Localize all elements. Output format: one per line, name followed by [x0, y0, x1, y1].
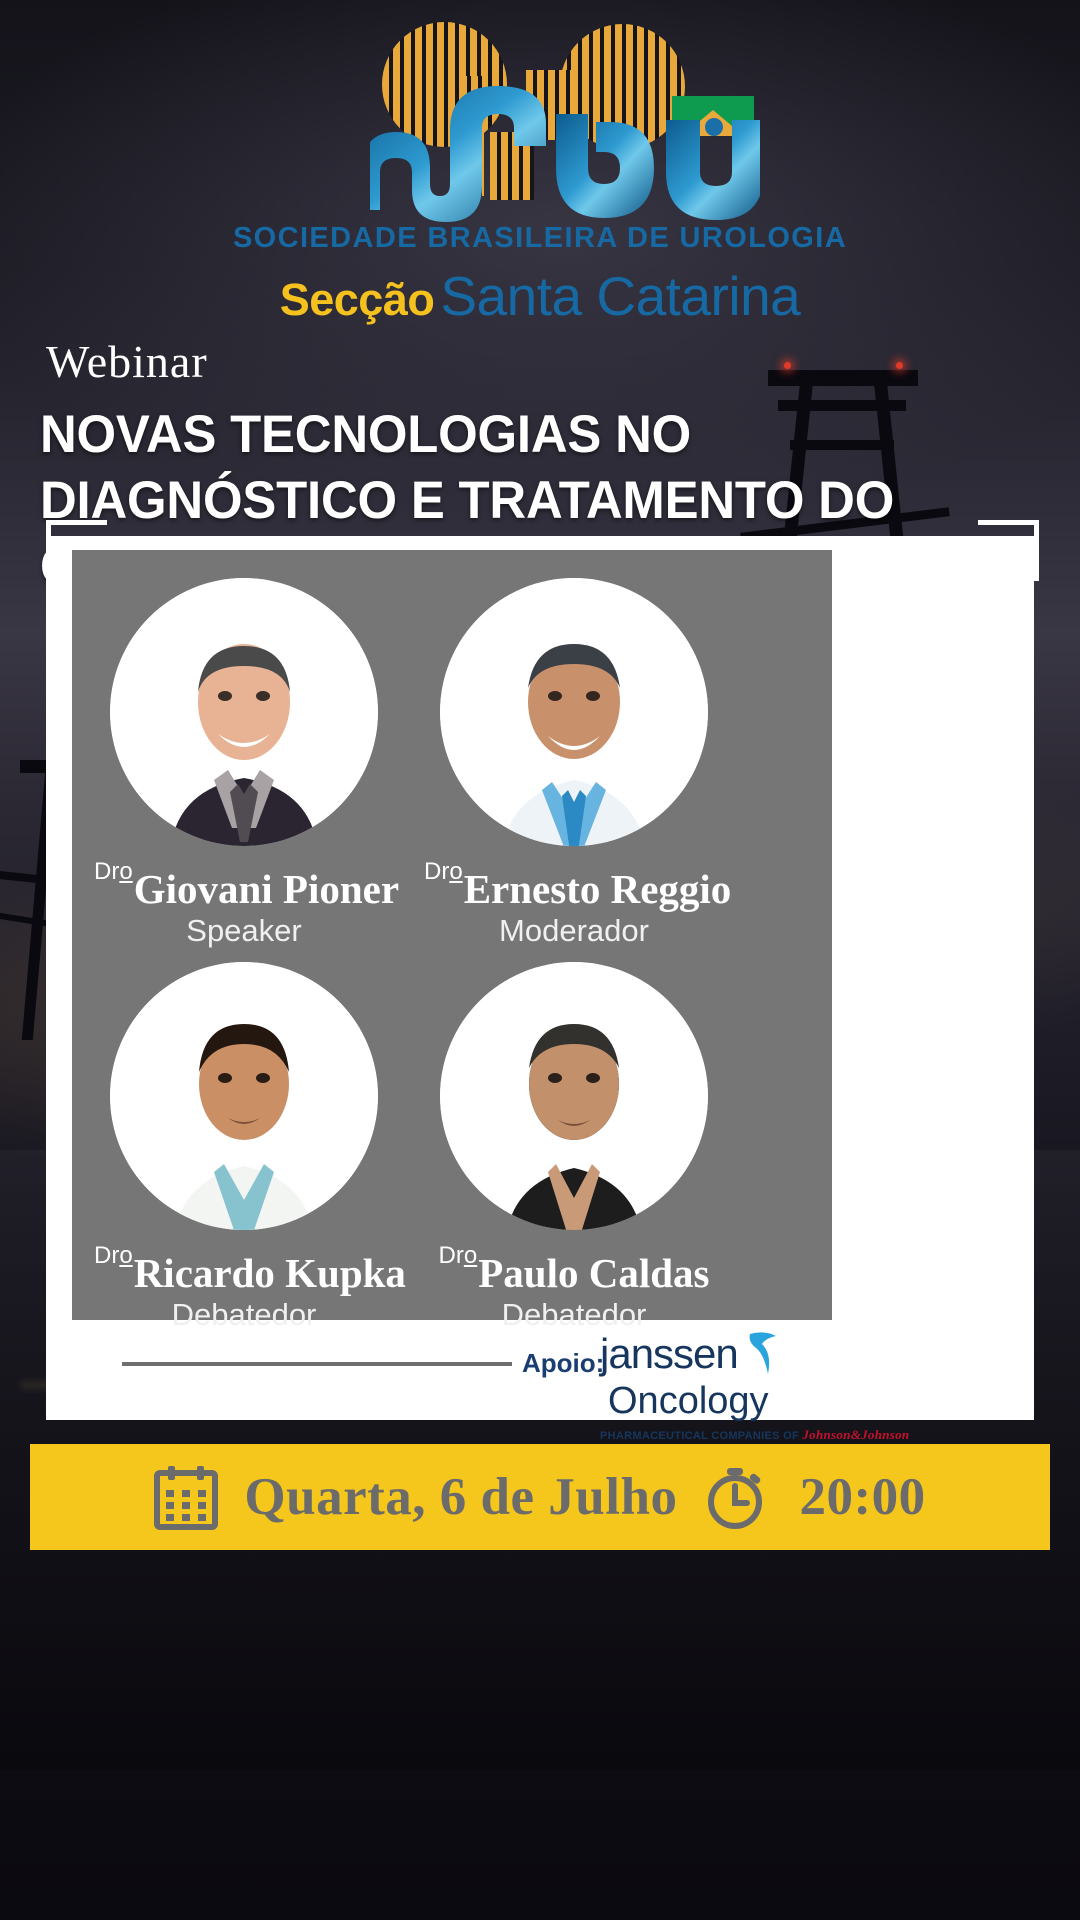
janssen-logo: janssen Oncology PHARMACEUTICAL COMPANIE… — [600, 1328, 920, 1443]
speakers-panel: DroGiovani Pioner Speaker — [72, 550, 832, 1320]
speaker-prefix: Dro — [94, 858, 133, 885]
speaker-role: Moderador — [424, 913, 724, 949]
section-state: Santa Catarina — [440, 265, 800, 327]
speaker-name: DroPaulo Caldas — [424, 1234, 724, 1295]
section-line: SecçãoSanta Catarina — [0, 264, 1080, 328]
janssen-mark-icon — [742, 1328, 782, 1380]
avatar — [440, 578, 708, 846]
calendar-icon — [154, 1464, 218, 1530]
avatar — [110, 578, 378, 846]
speaker-prefix: Dro — [424, 858, 463, 885]
speaker-card: DroGiovani Pioner Speaker — [94, 578, 394, 949]
speaker-prefix: Dro — [439, 1242, 478, 1269]
janssen-wordmark: janssen — [600, 1330, 738, 1378]
event-kicker: Webinar — [46, 335, 208, 388]
organization-name: SOCIEDADE BRASILEIRA DE UROLOGIA — [0, 222, 1080, 255]
divider — [122, 1362, 512, 1366]
event-date: Quarta, 6 de Julho — [244, 1467, 677, 1527]
speaker-prefix: Dro — [94, 1242, 133, 1269]
speaker-name: DroGiovani Pioner — [94, 850, 394, 911]
speaker-card: DroPaulo Caldas Debatedor — [424, 962, 724, 1333]
webinar-poster: SOCIEDADE BRASILEIRA DE UROLOGIA SecçãoS… — [0, 0, 1080, 1920]
avatar — [440, 962, 708, 1230]
speaker-role: Debatedor — [94, 1297, 394, 1333]
event-datetime-bar: Quarta, 6 de Julho 20:00 — [30, 1444, 1050, 1550]
sbu-logo — [0, 14, 1080, 229]
speaker-card: DroRicardo Kupka Debatedor — [94, 962, 394, 1333]
speaker-role: Speaker — [94, 913, 394, 949]
speaker-card: DroErnesto Reggio Moderador — [424, 578, 724, 949]
sponsor-label: Apoio: — [522, 1348, 604, 1379]
title-line-1: NOVAS TECNOLOGIAS NO — [40, 402, 1000, 468]
section-label: Secção — [280, 274, 435, 325]
avatar — [110, 962, 378, 1230]
janssen-tagline: PHARMACEUTICAL COMPANIES OF Johnson&John… — [600, 1427, 920, 1443]
speaker-name: DroRicardo Kupka — [94, 1234, 394, 1295]
speaker-name: DroErnesto Reggio — [424, 850, 724, 911]
sbu-letters-icon — [370, 72, 760, 222]
clock-icon — [703, 1464, 767, 1530]
janssen-division: Oncology — [608, 1380, 769, 1423]
event-time: 20:00 — [799, 1467, 925, 1527]
